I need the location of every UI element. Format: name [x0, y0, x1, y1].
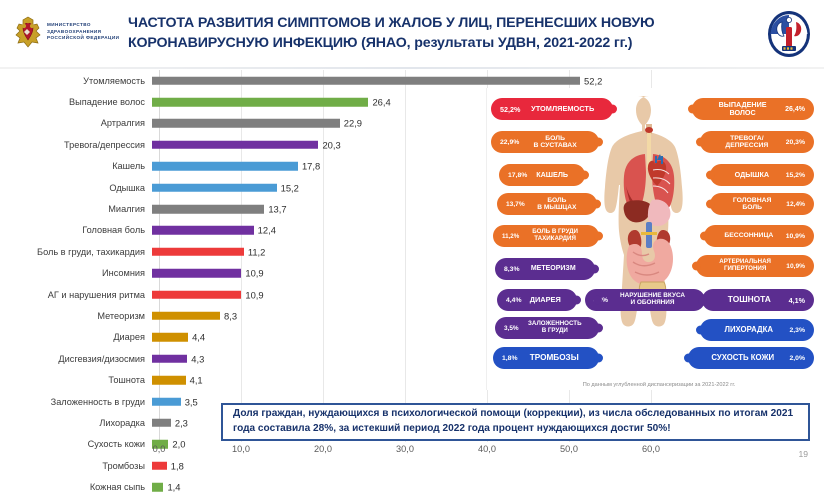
- symptom-percent: 4,3%: [593, 297, 608, 304]
- symptom-percent: 20,3%: [786, 139, 805, 146]
- bar-value-label: 22,9: [344, 118, 362, 129]
- page-title: ЧАСТОТА РАЗВИТИЯ СИМПТОМОВ И ЖАЛОБ У ЛИЦ…: [128, 13, 748, 53]
- bar-category-label: Тромбозы: [0, 461, 152, 471]
- chart-bar: [152, 248, 244, 257]
- chart-bar: [152, 141, 318, 150]
- bar-track: 15,2: [152, 177, 500, 198]
- symptom-name: ТОШНОТА: [710, 295, 789, 304]
- bar-track: 22,9: [152, 113, 500, 134]
- symptom-percent: 10,9%: [786, 233, 805, 240]
- chart-bar-row: Тошнота4,1: [0, 369, 500, 390]
- russian-coat-of-arms-icon: [14, 16, 42, 48]
- symptom-pill: АРТЕРИАЛЬНАЯ ГИПЕРТОНИЯ10,9%: [696, 255, 814, 277]
- symptom-percent: 52,2%: [500, 105, 520, 114]
- symptom-name: ВЫПАДЕНИЕ ВОЛОС: [700, 101, 785, 117]
- symptom-percent: 15,2%: [786, 172, 805, 179]
- bar-value-label: 17,8: [302, 161, 320, 172]
- symptom-pill: ТРЕВОГА/ ДЕПРЕССИЯ20,3%: [700, 131, 814, 153]
- symptom-name: МЕТЕОРИЗМ: [520, 265, 588, 273]
- chart-bar-row: Инсомния10,9: [0, 263, 500, 284]
- bar-track: 12,4: [152, 220, 500, 241]
- symptom-pill: 4,4%ДИАРЕЯ: [497, 289, 577, 311]
- chart-bar: [152, 461, 167, 470]
- symptom-percent: 11,2%: [502, 233, 519, 240]
- symptom-name: ЛИХОРАДКА: [708, 326, 790, 334]
- symptom-name: КАШЕЛЬ: [527, 171, 577, 179]
- chart-bar: [152, 269, 241, 278]
- symptom-percent: 8,3%: [504, 266, 520, 273]
- symptom-name: СУХОСТЬ КОЖИ: [696, 354, 790, 362]
- bar-value-label: 12,4: [258, 225, 276, 236]
- symptom-pill: 11,2%БОЛЬ В ГРУДИ ТАХИКАРДИЯ: [493, 225, 599, 247]
- symptom-pill: 17,8%КАШЕЛЬ: [499, 164, 585, 186]
- chart-bar-row: Диарея4,4: [0, 327, 500, 348]
- bar-value-label: 4,3: [191, 353, 204, 364]
- bar-value-label: 4,4: [192, 332, 205, 343]
- x-tick-label: 30,0: [396, 444, 414, 454]
- human-body-anatomy-illustration: [585, 90, 713, 358]
- chart-bar: [152, 162, 298, 171]
- bar-category-label: Заложенность в груди: [0, 397, 152, 407]
- symptom-percent: 12,4%: [786, 201, 805, 208]
- slide: МИНИСТЕРСТВО ЗДРАВООХРАНЕНИЯ РОССИЙСКОЙ …: [0, 0, 824, 495]
- symptom-percent: 2,0%: [790, 355, 806, 362]
- symptom-percent: 4,4%: [506, 297, 522, 304]
- symptom-name: ТРОМБОЗЫ: [518, 354, 592, 363]
- chart-bar-row: Головная боль12,4: [0, 220, 500, 241]
- bar-category-label: Инсомния: [0, 268, 152, 278]
- symptom-pill: 8,3%МЕТЕОРИЗМ: [495, 258, 595, 280]
- symptom-percent: 4,1%: [789, 296, 805, 305]
- bar-track: 10,9: [152, 263, 500, 284]
- symptom-name: УТОМЛЯЕМОСТЬ: [520, 105, 605, 113]
- bar-track: 10,9: [152, 284, 500, 305]
- symptom-name: БОЛЬ В СУСТАВАХ: [519, 135, 591, 150]
- chart-bar-row: Кашель17,8: [0, 156, 500, 177]
- symptom-pill: ГОЛОВНАЯ БОЛЬ12,4%: [710, 193, 814, 215]
- body-infographic-panel: 52,2%УТОМЛЯЕМОСТЬ22,9%БОЛЬ В СУСТАВАХ17,…: [486, 88, 818, 390]
- bar-value-label: 20,3: [322, 139, 340, 150]
- x-tick-label: 0,0: [153, 444, 166, 454]
- symptom-percent: 17,8%: [508, 172, 527, 179]
- symptom-name: БОЛЬ В ГРУДИ ТАХИКАРДИЯ: [519, 229, 591, 242]
- bar-track: 4,3: [152, 348, 500, 369]
- chart-bar-row: Выпадение волос26,4: [0, 91, 500, 112]
- bar-track: 8,3: [152, 305, 500, 326]
- symptom-pill: 3,5%ЗАЛОЖЕННОСТЬ В ГРУДИ: [495, 317, 599, 339]
- symptom-pill: 4,3%НАРУШЕНИЕ ВКУСА И ОБОНЯНИЯ: [585, 289, 705, 311]
- chart-bar-row: Дисгевзия/дизосмия4,3: [0, 348, 500, 369]
- bar-track: 11,2: [152, 241, 500, 262]
- x-tick-label: 40,0: [478, 444, 496, 454]
- yanao-regional-emblem-icon: [766, 10, 812, 58]
- symptom-name: АРТЕРИАЛЬНАЯ ГИПЕРТОНИЯ: [704, 259, 786, 272]
- symptom-pill: ОДЫШКА15,2%: [710, 164, 814, 186]
- x-tick-label: 50,0: [560, 444, 578, 454]
- bar-track: 20,3: [152, 134, 500, 155]
- chart-bar: [152, 205, 264, 214]
- x-tick-label: 60,0: [642, 444, 660, 454]
- bar-track: 26,4: [152, 91, 500, 112]
- symptom-pill: 22,9%БОЛЬ В СУСТАВАХ: [491, 131, 599, 153]
- symptom-pill: 1,8%ТРОМБОЗЫ: [493, 347, 599, 369]
- symptom-percent: 10,9%: [786, 263, 805, 270]
- slide-header: МИНИСТЕРСТВО ЗДРАВООХРАНЕНИЯ РОССИЙСКОЙ …: [0, 0, 824, 68]
- symptom-pill: ТОШНОТА4,1%: [702, 289, 814, 311]
- chart-bar: [152, 290, 241, 299]
- symptom-name: ОДЫШКА: [718, 171, 786, 179]
- bar-value-label: 10,9: [245, 289, 263, 300]
- symptom-name: ТРЕВОГА/ ДЕПРЕССИЯ: [708, 135, 786, 150]
- symptom-percent: 2,3%: [790, 327, 806, 334]
- chart-bar: [152, 226, 254, 235]
- bar-value-label: 11,2: [248, 246, 266, 257]
- chart-bar: [152, 183, 277, 192]
- bar-category-label: Артралгия: [0, 118, 152, 128]
- bar-track: 17,8: [152, 156, 500, 177]
- chart-bar: [152, 119, 340, 128]
- chart-x-axis: 0,010,020,030,040,050,060,0: [0, 444, 760, 462]
- bar-category-label: Миалгия: [0, 204, 152, 214]
- bar-value-label: 13,7: [268, 204, 286, 215]
- symptom-name: БОЛЬ В МЫШЦАХ: [525, 197, 589, 211]
- x-tick-label: 10,0: [232, 444, 250, 454]
- chart-bar: [152, 355, 187, 364]
- symptom-name: ГОЛОВНАЯ БОЛЬ: [718, 197, 786, 212]
- bar-category-label: Боль в груди, тахикардия: [0, 247, 152, 257]
- chart-bar-row: Одышка15,2: [0, 177, 500, 198]
- note-text: Доля граждан, нуждающихся в психологичес…: [233, 407, 798, 436]
- bar-track: 1,4: [152, 476, 500, 495]
- chart-bar: [152, 98, 368, 107]
- symptom-percent: 3,5%: [504, 325, 519, 332]
- symptom-percent: 26,4%: [785, 106, 805, 113]
- bar-category-label: Тошнота: [0, 375, 152, 385]
- chart-bar: [152, 483, 163, 492]
- chart-bar: [152, 333, 188, 342]
- bar-value-label: 8,3: [224, 310, 237, 321]
- bar-value-label: 3,5: [185, 396, 198, 407]
- bar-category-label: Одышка: [0, 183, 152, 193]
- chart-bar-row: АГ и нарушения ритма10,9: [0, 284, 500, 305]
- bar-category-label: Дисгевзия/дизосмия: [0, 354, 152, 364]
- symptom-name: НАРУШЕНИЕ ВКУСА И ОБОНЯНИЯ: [608, 293, 697, 307]
- chart-bar-row: Кожная сыпь1,4: [0, 476, 500, 495]
- chart-bar-row: Миалгия13,7: [0, 198, 500, 219]
- psychological-help-note-box: Доля граждан, нуждающихся в психологичес…: [221, 403, 810, 441]
- bar-track: 4,4: [152, 327, 500, 348]
- bar-category-label: Утомляемость: [0, 76, 152, 86]
- symptom-name: ЗАЛОЖЕННОСТЬ В ГРУДИ: [519, 321, 591, 334]
- ministry-logo: МИНИСТЕРСТВО ЗДРАВООХРАНЕНИЯ РОССИЙСКОЙ …: [14, 12, 134, 52]
- source-note: По данным углубленной диспансеризации за…: [509, 382, 809, 388]
- bar-value-label: 52,2: [584, 75, 602, 86]
- bar-track: 4,1: [152, 369, 500, 390]
- chart-bar-row: Утомляемость52,2: [0, 70, 500, 91]
- bar-value-label: 10,9: [245, 268, 263, 279]
- bar-category-label: АГ и нарушения ритма: [0, 290, 152, 300]
- bar-category-label: Диарея: [0, 332, 152, 342]
- page-number: 19: [798, 449, 808, 459]
- chart-bar-row: Артралгия22,9: [0, 113, 500, 134]
- bar-category-label: Лихорадка: [0, 418, 152, 428]
- bar-category-label: Кожная сыпь: [0, 482, 152, 492]
- bar-value-label: 1,4: [167, 482, 180, 493]
- chart-bar: [152, 419, 171, 428]
- symptom-pill: ЛИХОРАДКА2,3%: [700, 319, 814, 341]
- bar-category-label: Тревога/депрессия: [0, 140, 152, 150]
- chart-bar-row: Метеоризм8,3: [0, 305, 500, 326]
- header-divider: [0, 67, 824, 69]
- symptom-name: БЕССОННИЦА: [712, 232, 786, 239]
- chart-bar: [152, 397, 181, 406]
- bar-value-label: 26,4: [372, 97, 390, 108]
- symptom-name: ДИАРЕЯ: [522, 296, 570, 304]
- bar-category-label: Метеоризм: [0, 311, 152, 321]
- bar-value-label: 4,1: [190, 375, 203, 386]
- bar-value-label: 15,2: [281, 182, 299, 193]
- bar-track: 13,7: [152, 198, 500, 219]
- chart-bar: [152, 312, 220, 321]
- symptom-percent: 1,8%: [502, 355, 518, 362]
- symptom-pill: ВЫПАДЕНИЕ ВОЛОС26,4%: [692, 98, 814, 120]
- chart-bar-row: Боль в груди, тахикардия11,2: [0, 241, 500, 262]
- bar-track: 52,2: [152, 70, 500, 91]
- bar-category-label: Выпадение волос: [0, 97, 152, 107]
- bar-category-label: Кашель: [0, 161, 152, 171]
- symptom-percent: 13,7%: [506, 201, 525, 208]
- ministry-name-label: МИНИСТЕРСТВО ЗДРАВООХРАНЕНИЯ РОССИЙСКОЙ …: [47, 22, 119, 43]
- symptom-pill: БЕССОННИЦА10,9%: [704, 225, 814, 247]
- bar-category-label: Головная боль: [0, 225, 152, 235]
- bar-value-label: 2,3: [175, 417, 188, 428]
- symptom-pill: СУХОСТЬ КОЖИ2,0%: [688, 347, 814, 369]
- symptom-percent: 22,9%: [500, 139, 519, 146]
- x-tick-label: 20,0: [314, 444, 332, 454]
- chart-bar-row: Тревога/депрессия20,3: [0, 134, 500, 155]
- chart-bar: [152, 376, 186, 385]
- symptom-pill: 13,7%БОЛЬ В МЫШЦАХ: [497, 193, 597, 215]
- chart-bar: [152, 76, 580, 85]
- symptom-pill: 52,2%УТОМЛЯЕМОСТЬ: [491, 98, 613, 120]
